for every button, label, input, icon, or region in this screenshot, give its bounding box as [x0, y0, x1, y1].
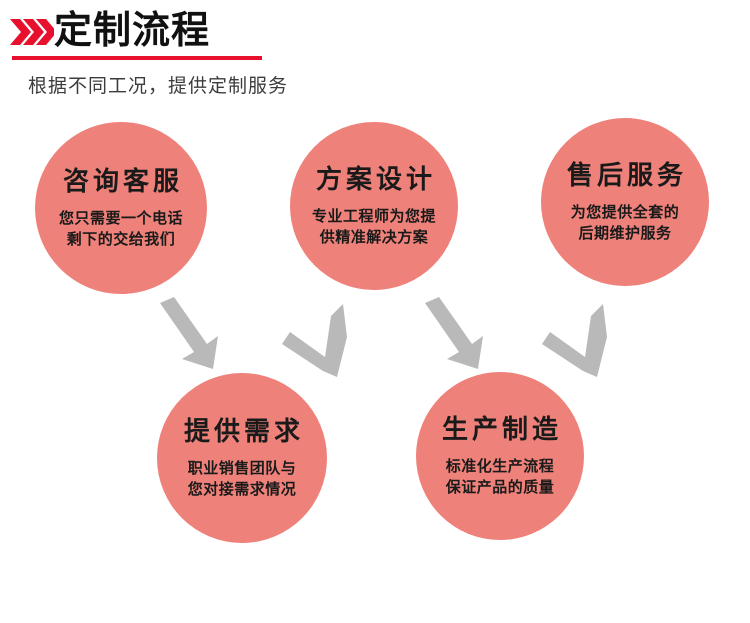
flow-step-2-description: 职业销售团队与 您对接需求情况	[188, 458, 297, 500]
flow-step-5-description: 为您提供全套的 后期维护服务	[571, 202, 680, 244]
flow-step-2[interactable]: 提供需求 职业销售团队与 您对接需求情况	[157, 373, 327, 543]
flow-step-4-title: 生产制造	[438, 414, 562, 446]
flow-step-3-description: 专业工程师为您提 供精准解决方案	[312, 206, 436, 248]
arrow-step3-to-step4-icon	[417, 297, 487, 369]
flow-step-5-desc-line-2: 后期维护服务	[571, 223, 680, 244]
flow-step-2-desc-line-1: 职业销售团队与	[188, 458, 297, 479]
flow-step-4-description: 标准化生产流程 保证产品的质量	[446, 456, 555, 498]
flow-step-1[interactable]: 咨询客服 您只需要一个电话 剩下的交给我们	[35, 122, 207, 294]
arrow-step4-to-step5-icon	[541, 301, 609, 377]
flow-step-3[interactable]: 方案设计 专业工程师为您提 供精准解决方案	[290, 122, 458, 290]
flow-step-3-title: 方案设计	[312, 164, 436, 196]
flow-step-5-desc-line-1: 为您提供全套的	[571, 202, 680, 223]
process-flow-diagram: 咨询客服 您只需要一个电话 剩下的交给我们 方案设计 专业工程师为您提 供精准解…	[0, 0, 750, 623]
flow-step-2-desc-line-2: 您对接需求情况	[188, 479, 297, 500]
flow-step-3-desc-line-2: 供精准解决方案	[312, 227, 436, 248]
flow-step-1-description: 您只需要一个电话 剩下的交给我们	[59, 208, 183, 250]
flow-step-1-desc-line-1: 您只需要一个电话	[59, 208, 183, 229]
flow-step-1-title: 咨询客服	[59, 166, 183, 198]
flow-infographic: 定制流程 根据不同工况，提供定制服务 咨询客服 您只需要一个电话 剩下的交给我们…	[0, 0, 750, 623]
arrow-step1-to-step2-icon	[152, 297, 222, 369]
flow-step-4-desc-line-1: 标准化生产流程	[446, 456, 555, 477]
flow-step-1-desc-line-2: 剩下的交给我们	[59, 229, 183, 250]
flow-step-4[interactable]: 生产制造 标准化生产流程 保证产品的质量	[416, 372, 584, 540]
flow-step-3-desc-line-1: 专业工程师为您提	[312, 206, 436, 227]
flow-step-5-title: 售后服务	[563, 160, 687, 192]
flow-step-2-title: 提供需求	[180, 416, 304, 448]
arrow-step2-to-step3-icon	[281, 301, 349, 377]
flow-step-4-desc-line-2: 保证产品的质量	[446, 477, 555, 498]
flow-step-5[interactable]: 售后服务 为您提供全套的 后期维护服务	[541, 118, 709, 286]
